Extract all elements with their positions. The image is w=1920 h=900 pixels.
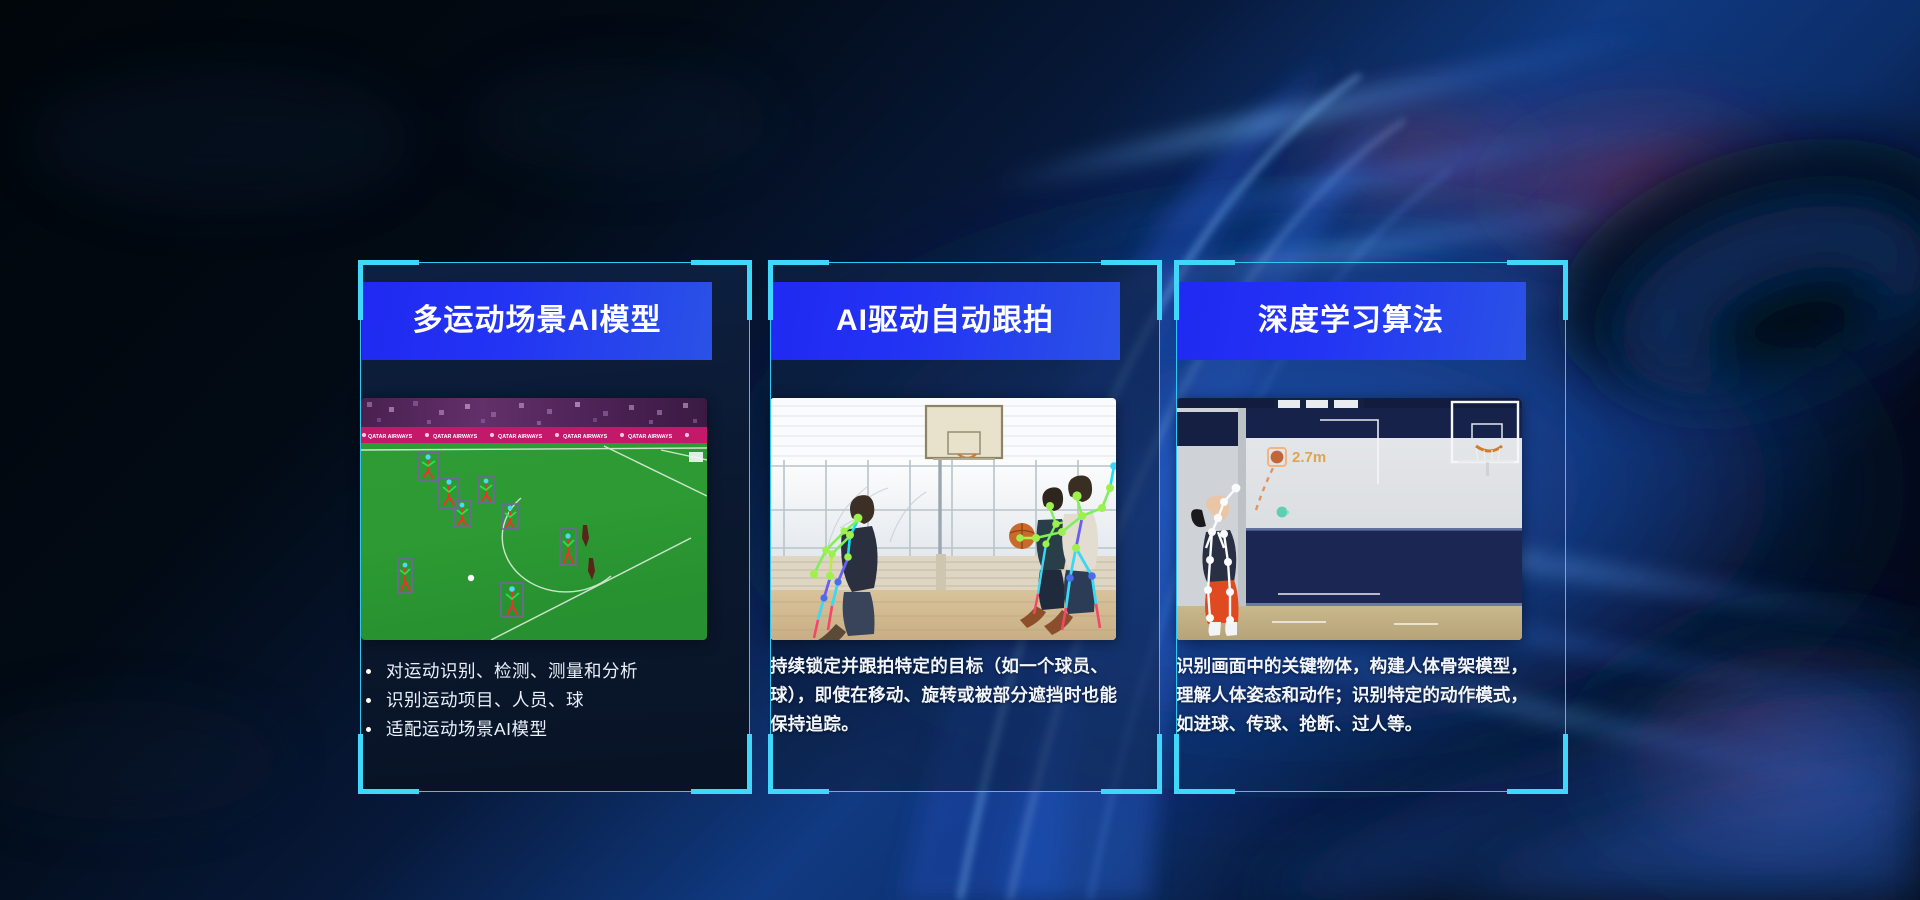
svg-text:QATAR AIRWAYS: QATAR AIRWAYS bbox=[563, 434, 608, 440]
feature-description: 持续锁定并跟拍特定的目标（如一个球员、球），即使在移动、旋转或被部分遮挡时也能保… bbox=[770, 652, 1130, 739]
card-body: 持续锁定并跟拍特定的目标（如一个球员、球），即使在移动、旋转或被部分遮挡时也能保… bbox=[770, 652, 1130, 739]
list-item: 适配运动场景AI模型 bbox=[362, 715, 722, 744]
card-title: AI驱动自动跟拍 bbox=[836, 306, 1054, 336]
feature-card-deep-learning-algorithm[interactable]: 深度学习算法 bbox=[1176, 262, 1566, 792]
svg-text:QATAR AIRWAYS: QATAR AIRWAYS bbox=[433, 434, 478, 440]
distance-label: 2.7m bbox=[1292, 449, 1326, 466]
feature-card-ai-auto-tracking[interactable]: AI驱动自动跟拍 bbox=[770, 262, 1160, 792]
feature-description: 识别画面中的关键物体，构建人体骨架模型，理解人体姿态和动作；识别特定的动作模式，… bbox=[1176, 652, 1536, 739]
card-title: 多运动场景AI模型 bbox=[413, 306, 662, 336]
list-item: 识别运动项目、人员、球 bbox=[362, 686, 722, 715]
feature-bullet-list: 对运动识别、检测、测量和分析 识别运动项目、人员、球 适配运动场景AI模型 bbox=[362, 657, 722, 744]
svg-text:QATAR AIRWAYS: QATAR AIRWAYS bbox=[498, 434, 543, 440]
card-body: 对运动识别、检测、测量和分析 识别运动项目、人员、球 适配运动场景AI模型 bbox=[362, 657, 722, 744]
feature-card-grid: 多运动场景AI模型 bbox=[0, 0, 1920, 900]
list-item: 对运动识别、检测、测量和分析 bbox=[362, 657, 722, 686]
basketball-gym-pose-thumbnail[interactable] bbox=[770, 398, 1116, 640]
card-title: 深度学习算法 bbox=[1258, 306, 1444, 336]
card-header-bar: 深度学习算法 bbox=[1176, 282, 1526, 360]
card-body: 识别画面中的关键物体，构建人体骨架模型，理解人体姿态和动作；识别特定的动作模式，… bbox=[1176, 652, 1536, 739]
basketball-shot-tracking-thumbnail[interactable]: 2.7m bbox=[1176, 398, 1522, 640]
card-header-bar: 多运动场景AI模型 bbox=[362, 282, 712, 360]
svg-text:QATAR AIRWAYS: QATAR AIRWAYS bbox=[628, 434, 673, 440]
card-header-bar: AI驱动自动跟拍 bbox=[770, 282, 1120, 360]
feature-card-multi-sport-ai-model[interactable]: 多运动场景AI模型 bbox=[360, 262, 750, 792]
soccer-field-detection-thumbnail[interactable]: QATAR AIRWAYS QATAR AIRWAYS QATAR AIRWAY… bbox=[361, 398, 707, 640]
svg-text:QATAR AIRWAYS: QATAR AIRWAYS bbox=[368, 434, 413, 440]
